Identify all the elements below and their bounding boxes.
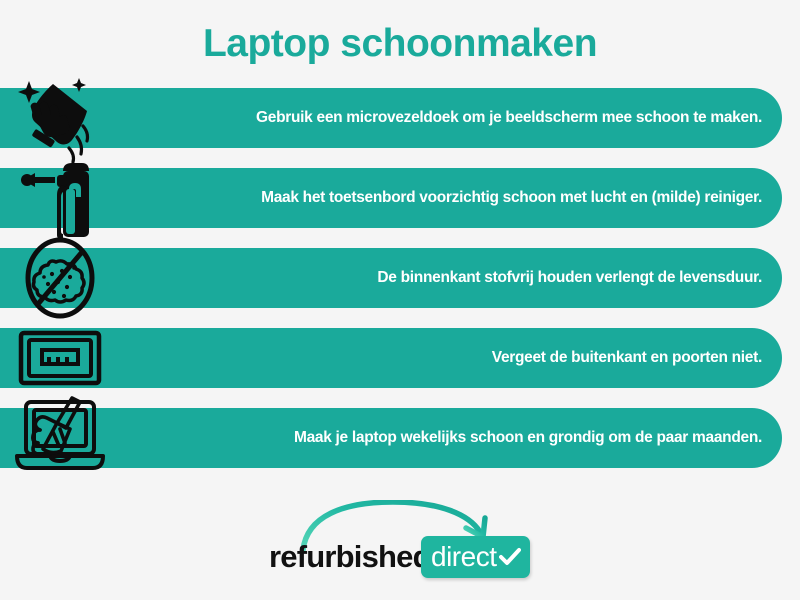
infographic-poster: Laptop schoonmaken Gebruik een microveze… [0, 0, 800, 600]
logo-badge-label: direct [431, 541, 496, 573]
tip-bar-cleaning-schedule: Maak je laptop wekelijks schoon en grond… [0, 408, 782, 468]
logo-badge-direct: direct [421, 536, 530, 578]
checkmark-icon [499, 547, 521, 567]
list-item: De binnenkant stofvrij houden verlengt d… [0, 248, 800, 308]
tip-text: De binnenkant stofvrij houden verlengt d… [377, 269, 762, 287]
tip-text: Gebruik een microvezeldoek om je beeldsc… [256, 109, 762, 127]
tip-bar-microfiber-cloth: Gebruik een microvezeldoek om je beeldsc… [0, 88, 782, 148]
tip-text: Vergeet de buitenkant en poorten niet. [492, 349, 762, 367]
tip-bar-dust-free-interior: De binnenkant stofvrij houden verlengt d… [0, 248, 782, 308]
list-item: Gebruik een microvezeldoek om je beeldsc… [0, 88, 800, 148]
tip-bar-exterior-and-ports: Vergeet de buitenkant en poorten niet. [0, 328, 782, 388]
logo-word-refurbished: refurbished [269, 538, 431, 576]
tip-text: Maak het toetsenbord voorzichtig schoon … [261, 189, 762, 207]
tip-bar-keyboard-cleaning: Maak het toetsenbord voorzichtig schoon … [0, 168, 782, 228]
tips-list: Gebruik een microvezeldoek om je beeldsc… [0, 88, 800, 488]
page-title: Laptop schoonmaken [0, 22, 800, 66]
list-item: Maak het toetsenbord voorzichtig schoon … [0, 168, 800, 228]
list-item: Vergeet de buitenkant en poorten niet. [0, 328, 800, 388]
brand-logo: refurbished direct [0, 498, 800, 588]
list-item: Maak je laptop wekelijks schoon en grond… [0, 408, 800, 468]
tip-text: Maak je laptop wekelijks schoon en grond… [294, 429, 762, 447]
